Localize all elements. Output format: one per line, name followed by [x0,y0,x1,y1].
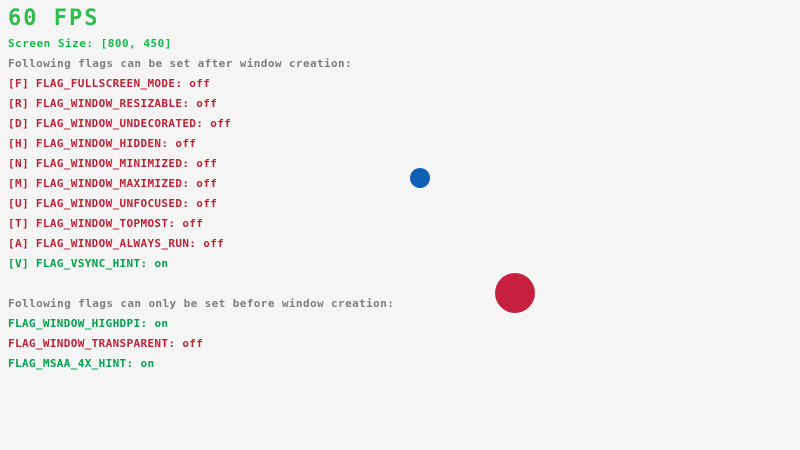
flag-hotkey: [T] [8,217,36,230]
flag-row-flag-window-unfocused[interactable]: [U] FLAG_WINDOW_UNFOCUSED: off [8,198,217,209]
flag-row-flag-window-undecorated[interactable]: [D] FLAG_WINDOW_UNDECORATED: off [8,118,231,129]
flag-name: FLAG_WINDOW_UNFOCUSED: [36,197,196,210]
flag-hotkey: [N] [8,157,36,170]
flag-state-value: off [203,237,224,250]
flag-hotkey: [D] [8,117,36,130]
flag-hotkey: [R] [8,97,36,110]
flag-name: FLAG_FULLSCREEN_MODE: [36,77,189,90]
flag-hotkey: [A] [8,237,36,250]
flag-name: FLAG_WINDOW_HIDDEN: [36,137,175,150]
flag-hotkey: [V] [8,257,36,270]
flag-row-flag-window-minimized[interactable]: [N] FLAG_WINDOW_MINIMIZED: off [8,158,217,169]
flag-row-flag-window-topmost[interactable]: [T] FLAG_WINDOW_TOPMOST: off [8,218,203,229]
flag-hotkey: [M] [8,177,36,190]
flag-name: FLAG_WINDOW_TOPMOST: [36,217,182,230]
flag-row-flag-vsync-hint[interactable]: [V] FLAG_VSYNC_HINT: on [8,258,168,269]
flag-row-flag-window-highdpi: FLAG_WINDOW_HIGHDPI: on [8,318,168,329]
screen-size-label: Screen Size: [800, 450] [8,38,172,49]
flag-state-value: off [210,117,231,130]
flag-state-value: off [196,197,217,210]
flag-name: FLAG_WINDOW_MAXIMIZED: [36,177,196,190]
app-canvas: 60 FPS Screen Size: [800, 450] Following… [0,0,800,450]
flag-state-value: off [175,137,196,150]
flag-state-value: off [196,97,217,110]
flag-hotkey: [H] [8,137,36,150]
flag-row-flag-window-maximized[interactable]: [M] FLAG_WINDOW_MAXIMIZED: off [8,178,217,189]
flag-name: FLAG_MSAA_4X_HINT: [8,357,140,370]
flag-name: FLAG_WINDOW_TRANSPARENT: [8,337,182,350]
flag-state-value: off [182,217,203,230]
flag-state-value: on [140,357,154,370]
flag-name: FLAG_WINDOW_MINIMIZED: [36,157,196,170]
flag-name: FLAG_WINDOW_UNDECORATED: [36,117,210,130]
fps-counter: 60 FPS [8,8,99,30]
flag-name: FLAG_VSYNC_HINT: [36,257,155,270]
blue-ball [410,168,430,188]
flag-hotkey: [U] [8,197,36,210]
flag-state-value: off [182,337,203,350]
flag-name: FLAG_WINDOW_RESIZABLE: [36,97,196,110]
flag-row-flag-fullscreen-mode[interactable]: [F] FLAG_FULLSCREEN_MODE: off [8,78,210,89]
flag-state-value: off [196,157,217,170]
flag-row-flag-window-resizable[interactable]: [R] FLAG_WINDOW_RESIZABLE: off [8,98,217,109]
flag-row-flag-window-hidden[interactable]: [H] FLAG_WINDOW_HIDDEN: off [8,138,196,149]
flag-row-flag-msaa-4x-hint: FLAG_MSAA_4X_HINT: on [8,358,154,369]
flag-row-flag-window-transparent: FLAG_WINDOW_TRANSPARENT: off [8,338,203,349]
flag-hotkey: [F] [8,77,36,90]
flag-state-value: on [154,257,168,270]
flag-state-value: off [189,77,210,90]
runtime-flags-note: Following flags can be set after window … [8,58,352,69]
flag-name: FLAG_WINDOW_ALWAYS_RUN: [36,237,203,250]
flag-state-value: on [154,317,168,330]
flag-row-flag-window-always-run[interactable]: [A] FLAG_WINDOW_ALWAYS_RUN: off [8,238,224,249]
flag-name: FLAG_WINDOW_HIGHDPI: [8,317,154,330]
red-ball [495,273,535,313]
flag-state-value: off [196,177,217,190]
startup-flags-note: Following flags can only be set before w… [8,298,394,309]
